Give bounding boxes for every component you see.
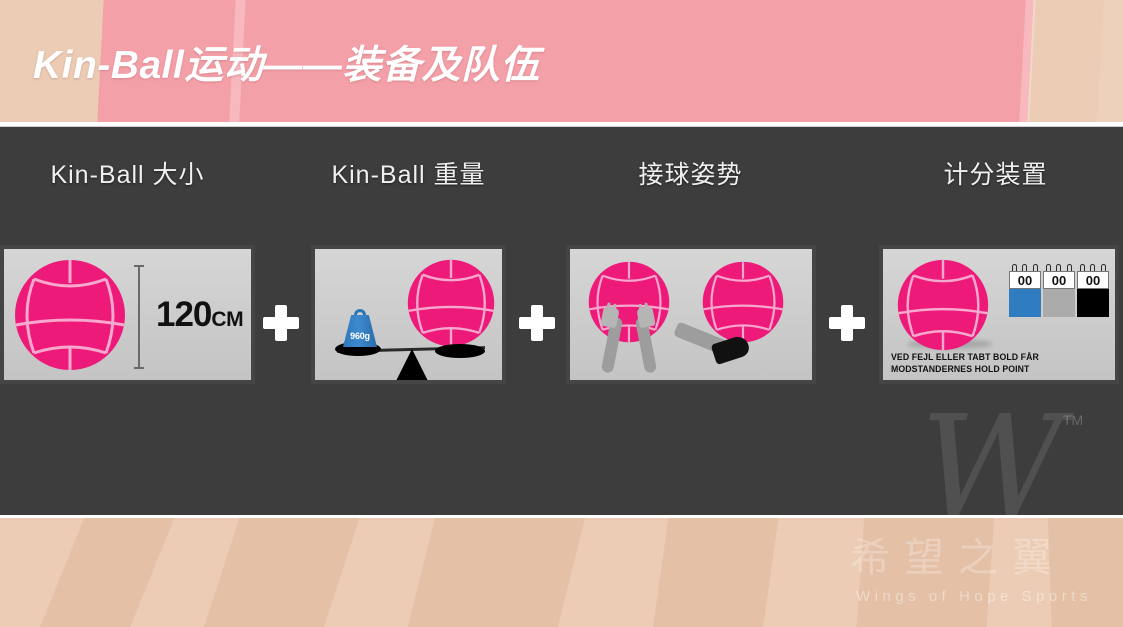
watermark-trademark: TM	[1063, 412, 1083, 428]
weight-value: 960g	[343, 331, 377, 341]
balance-pivot	[395, 349, 429, 383]
kinball-icon	[702, 261, 784, 343]
scoring-notice-text: VED FEJL ELLER TABT BOLD FÅR MODSTANDERN…	[891, 352, 1093, 376]
kinball-icon	[897, 259, 989, 351]
page-title: Kin-Ball运动——装备及队伍	[33, 34, 540, 90]
footer-ray-5	[854, 518, 997, 627]
slide-footer	[0, 518, 1123, 627]
balance-pan-right	[435, 344, 485, 358]
flip-rings-3	[1077, 263, 1109, 271]
column-catch-pose-title: 接球姿势	[563, 155, 818, 191]
plus-separator-1	[263, 305, 299, 341]
flip-card-3: 00	[1077, 263, 1109, 317]
footer-divider	[0, 515, 1123, 518]
flip-card-1: 00	[1009, 263, 1041, 317]
footer-ray-1	[24, 518, 187, 627]
footer-ray-6	[1047, 518, 1123, 627]
flip-value-1: 00	[1009, 271, 1041, 289]
flip-value-2: 00	[1043, 271, 1075, 289]
footer-ray-4	[647, 518, 782, 627]
header-divider-shadow	[0, 126, 1123, 127]
flip-rings-1	[1009, 263, 1041, 271]
footer-ray-2	[191, 518, 369, 627]
plus-separator-2	[519, 305, 555, 341]
flip-color-block-1	[1009, 289, 1041, 317]
kinball-icon	[588, 261, 670, 343]
dimension-label: 120CM	[156, 295, 243, 335]
flip-card-2: 00	[1043, 263, 1075, 317]
figure-catch-pose	[566, 245, 816, 384]
slide-body: W TM Kin-Ball 大小 1.2米直径的大球	[0, 127, 1123, 518]
column-size-title: Kin-Ball 大小	[0, 155, 255, 191]
flip-rings-2	[1043, 263, 1075, 271]
flip-value-3: 00	[1077, 271, 1109, 289]
figure-weight: 960g	[311, 245, 506, 384]
flip-color-block-3	[1077, 289, 1109, 317]
weight-icon: 960g	[343, 307, 377, 347]
dimension-unit: CM	[211, 308, 243, 331]
column-scoring-device-title: 计分装置	[868, 155, 1123, 191]
slide: Kin-Ball运动——装备及队伍 W TM Kin-Ball 大小 1.2米直…	[0, 0, 1123, 627]
scoreboard: 00 00 00	[1009, 263, 1109, 317]
column-weight-title: Kin-Ball 重量	[281, 155, 536, 191]
kinball-icon	[407, 259, 495, 347]
kinball-icon	[14, 259, 126, 371]
dimension-value: 120	[156, 295, 211, 334]
flip-color-block-2	[1043, 289, 1075, 317]
footer-ray-3	[398, 518, 593, 627]
figure-scoring-device: 00 00 00 VED FEJL ELLER TABT BOLD FÅR MO…	[879, 245, 1119, 384]
plus-separator-3	[829, 305, 865, 341]
dimension-line	[138, 265, 140, 369]
figure-size: 120CM	[0, 245, 255, 384]
